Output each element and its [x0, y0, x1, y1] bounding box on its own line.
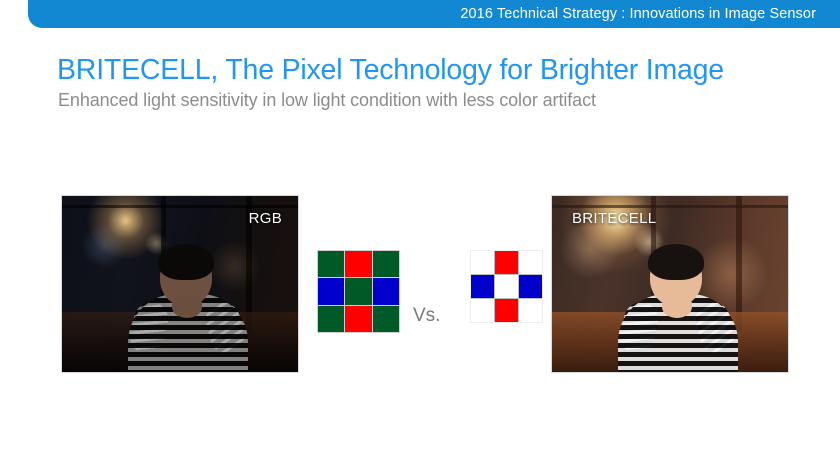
photo-britecell: BRITECELL	[551, 195, 789, 373]
pixel-cell-green	[318, 251, 344, 277]
pixel-cell-green	[373, 306, 399, 332]
page-title: BRITECELL, The Pixel Technology for Brig…	[57, 54, 724, 87]
pixel-cell-blue	[373, 278, 399, 304]
pixel-pattern-rgb	[317, 250, 400, 333]
pixel-cell-white	[519, 251, 542, 274]
window-mullion-horizontal	[552, 205, 788, 208]
pixel-cell-green	[373, 251, 399, 277]
figure-hair	[648, 244, 704, 280]
figure-hands	[172, 296, 202, 318]
pixel-cell-red	[495, 251, 518, 274]
header-bar: 2016 Technical Strategy : Innovations in…	[28, 0, 840, 28]
pixel-cell-blue	[471, 275, 494, 298]
figure-hair	[158, 244, 214, 280]
photo-label-rgb: RGB	[249, 210, 282, 227]
pixel-cell-red	[345, 306, 371, 332]
window-mullion-horizontal	[62, 205, 298, 208]
pixel-cell-blue	[318, 278, 344, 304]
pixel-cell-white	[471, 299, 494, 322]
figure-hands	[662, 296, 692, 318]
photo-rgb: RGB	[61, 195, 299, 373]
pixel-cell-red	[345, 251, 371, 277]
vs-label: Vs.	[413, 305, 440, 327]
pixel-pattern-britecell	[470, 250, 543, 323]
pixel-cell-white	[471, 251, 494, 274]
header-title: 2016 Technical Strategy : Innovations in…	[460, 0, 840, 28]
photo-label-britecell: BRITECELL	[572, 210, 656, 227]
pixel-cell-white	[495, 275, 518, 298]
page-subtitle: Enhanced light sensitivity in low light …	[58, 90, 596, 111]
pixel-cell-red	[495, 299, 518, 322]
pixel-cell-white	[519, 299, 542, 322]
pixel-cell-green	[345, 278, 371, 304]
pixel-cell-green	[318, 306, 344, 332]
pixel-cell-blue	[519, 275, 542, 298]
